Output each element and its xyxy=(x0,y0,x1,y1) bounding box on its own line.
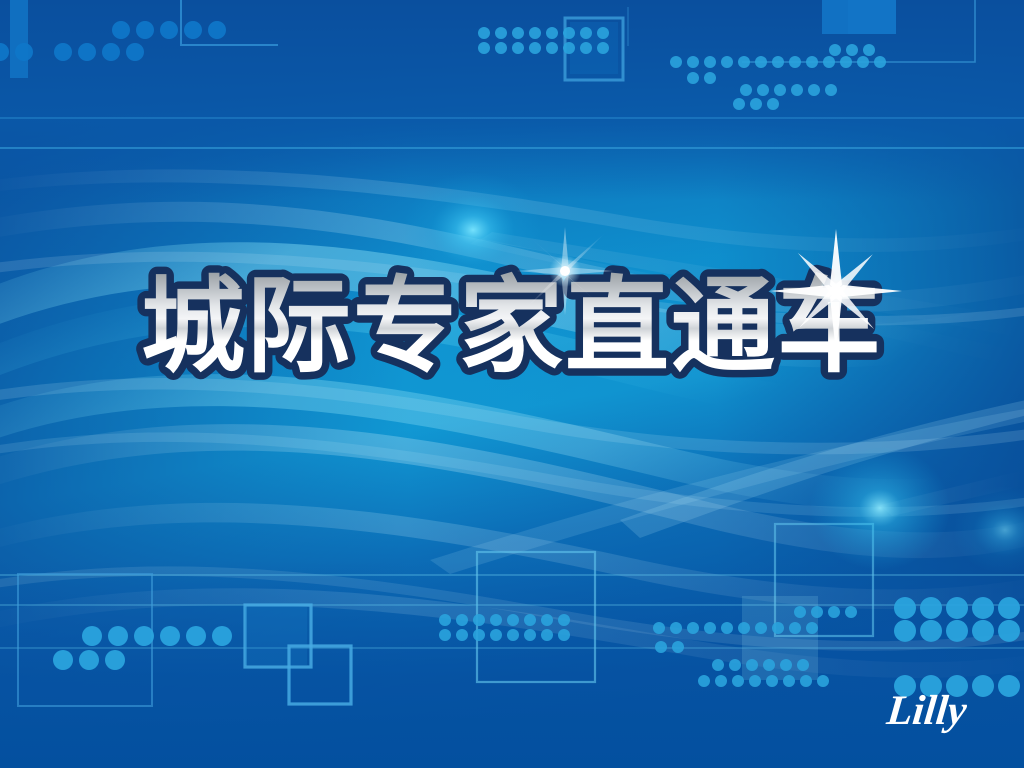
slide-background xyxy=(0,0,1024,768)
dot-cluster-11 xyxy=(53,650,125,670)
lilly-logo-svg: Lilly xyxy=(870,680,990,740)
glow-spot-upper-left xyxy=(403,172,543,288)
decor-rect-top-right-a xyxy=(822,0,848,34)
brand-logo: Lilly xyxy=(870,680,990,740)
dot-cluster-9 xyxy=(829,44,875,56)
glow-spot-right xyxy=(810,446,950,570)
lilly-wordmark-text: Lilly xyxy=(884,687,970,734)
decor-rect-top-right-b xyxy=(848,0,896,34)
presentation-slide: 城际专家直通车 城际专家直通车 Lilly xyxy=(0,0,1024,768)
decor-rect-top-left xyxy=(10,0,28,78)
dot-cluster-8 xyxy=(733,98,779,110)
